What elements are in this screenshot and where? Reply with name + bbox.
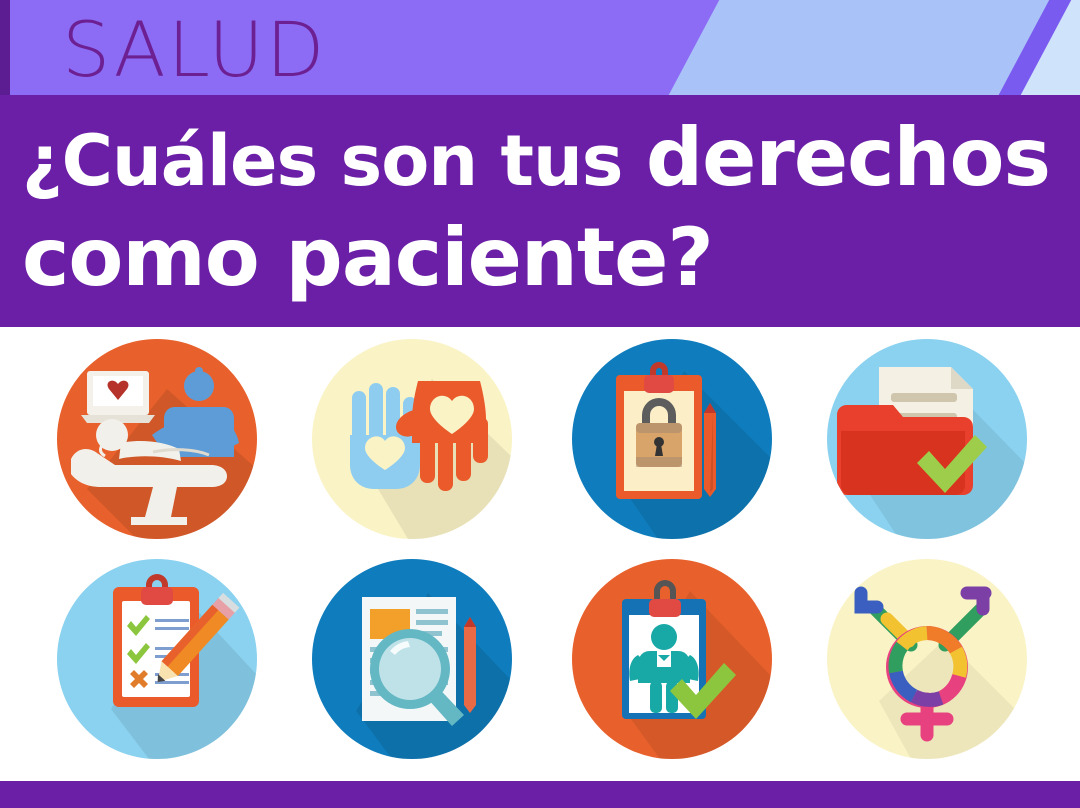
icon-cell-checklist	[57, 559, 257, 759]
checklist-clipboard-pencil-icon	[57, 559, 257, 759]
icon-cell-gender-identity	[827, 559, 1027, 759]
patient-care-icon	[57, 339, 257, 539]
patient-care-art	[57, 339, 257, 539]
headline-line-1: ¿Cuáles son tus derechos	[22, 109, 1062, 210]
icon-cell-helping-hands	[312, 339, 512, 539]
banner-diagonal-stripe-1	[645, 0, 1065, 95]
icon-grid	[0, 327, 1080, 781]
helping-hands-heart-icon	[312, 339, 512, 539]
patient-consent-art	[572, 559, 772, 759]
checklist-art	[57, 559, 257, 759]
bottom-accent-bar	[0, 781, 1080, 808]
gender-identity-icon	[827, 559, 1027, 759]
headline-line-1-emphasis: derechos	[646, 111, 1050, 204]
patient-consent-check-icon	[572, 559, 772, 759]
clipboard-lock-art	[572, 339, 772, 539]
icon-cell-consent	[572, 559, 772, 759]
icon-cell-patient-care	[57, 339, 257, 539]
headline-line-2: como paciente?	[22, 210, 1062, 306]
icon-cell-privacy	[572, 339, 772, 539]
folder-document-check-icon	[827, 339, 1027, 539]
top-banner: SALUD	[0, 0, 1080, 95]
icon-cell-review	[312, 559, 512, 759]
poster-root: SALUD ¿Cuáles son tus derechos como paci…	[0, 0, 1080, 808]
headline-bar: ¿Cuáles son tus derechos como paciente?	[0, 95, 1080, 327]
headline-line-1-regular: ¿Cuáles son tus	[22, 120, 646, 202]
folder-check-art	[827, 339, 1027, 539]
clipboard-lock-privacy-icon	[572, 339, 772, 539]
document-magnifier-art	[312, 559, 512, 759]
icon-cell-records	[827, 339, 1027, 539]
helping-hands-art	[312, 339, 512, 539]
gender-identity-art	[827, 559, 1027, 759]
category-label: SALUD	[62, 2, 326, 95]
banner-left-accent-bar	[0, 0, 10, 95]
document-magnifier-review-icon	[312, 559, 512, 759]
